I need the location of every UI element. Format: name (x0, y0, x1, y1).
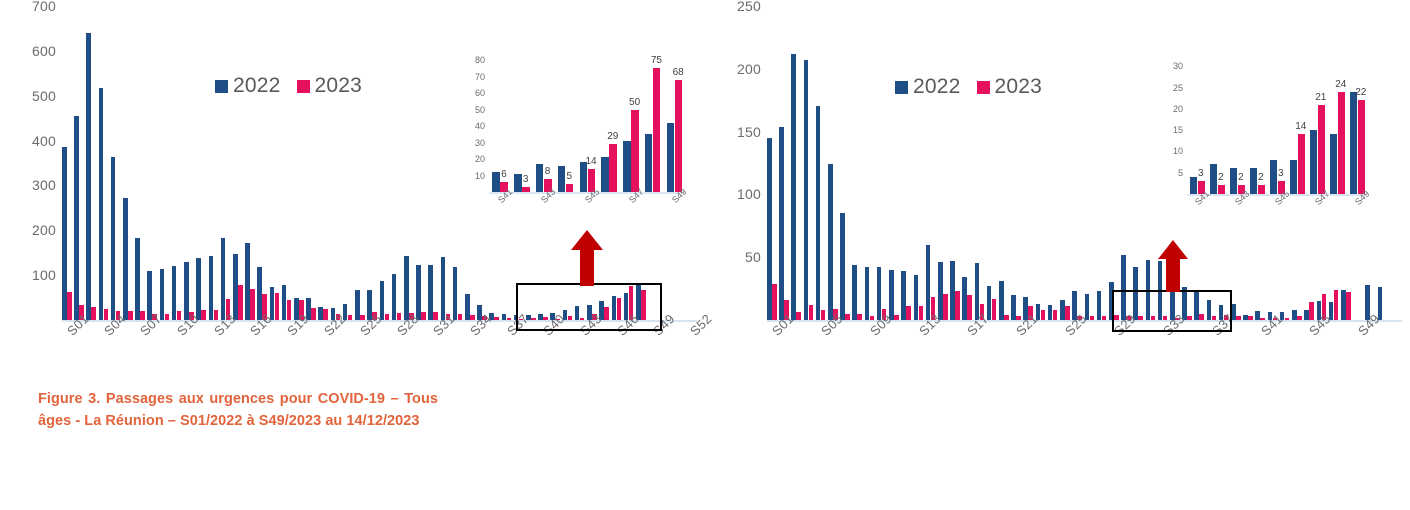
bar-2023-S13 (214, 310, 219, 320)
bar-group (1023, 6, 1035, 320)
bar-group (331, 6, 343, 320)
legend-swatch-2023-icon (977, 81, 990, 94)
bar-2022-S06 (828, 164, 833, 320)
inset-data-label: 29 (607, 131, 618, 142)
y-axis-tick: 400 (32, 133, 56, 149)
inset-y-tick: 10 (1173, 146, 1183, 156)
y-axis-tick: 300 (32, 177, 56, 193)
bar-2023-S19 (287, 300, 292, 320)
bar-2022-S48 (1341, 290, 1346, 320)
bar-2023-S17 (967, 295, 972, 320)
bar-group (901, 6, 913, 320)
bar-group (184, 6, 196, 320)
figure-3-inset-chart: 1020304050607080 63851429507568 S41S43S4… (455, 42, 695, 222)
bar-group (355, 6, 367, 320)
inset-bar-2023-S47 (631, 110, 639, 192)
bar-2022-S12 (196, 258, 201, 320)
inset-bar-2023-S44 (566, 184, 574, 192)
inset-bar-2023-S48 (653, 68, 661, 192)
inset-data-label: 68 (673, 67, 684, 78)
bar-2022-S12 (901, 271, 906, 320)
bar-2022-S31 (428, 265, 433, 320)
bar-2022-S19 (987, 286, 992, 320)
inset-bar-2022-S42 (514, 174, 522, 192)
bar-2023-S23 (1041, 310, 1046, 320)
bar-group (233, 6, 245, 320)
bar-2022-S28 (1097, 291, 1102, 320)
bar-2022-S01 (767, 138, 772, 320)
inset-y-tick: 25 (1173, 83, 1183, 93)
bar-2022-S16 (245, 243, 250, 320)
figure-4-inset-chart: 51015202530 3222314212422 S41S43S45S47S4… (1155, 52, 1390, 227)
bar-group (209, 6, 221, 320)
bar-group (428, 6, 440, 320)
inset-data-label: 5 (566, 171, 572, 182)
bar-2023-S10 (177, 311, 182, 320)
bar-2022-S05 (816, 106, 821, 320)
bar-group (245, 6, 257, 320)
inset-bar-2022-S48 (645, 134, 653, 192)
inset-bar-2023-S49 (675, 80, 683, 192)
bar-2023-S12 (906, 306, 911, 320)
legend-entry-2022: 2022 (215, 74, 281, 98)
bar-2023-S18 (275, 293, 280, 320)
bar-2022-S04 (804, 60, 809, 320)
bar-2022-S41 (1255, 311, 1260, 320)
bar-group (172, 6, 184, 320)
bar-2022-S25 (355, 290, 360, 320)
bar-group (147, 6, 159, 320)
bar-2022-S15 (938, 262, 943, 320)
bar-group (380, 6, 392, 320)
inset-bar-2022-S41 (1190, 177, 1197, 194)
legend-entry-2022: 2022 (895, 75, 961, 99)
y-axis-tick: 250 (737, 0, 761, 14)
bar-2023-S30 (421, 312, 426, 320)
bar-2022-S22 (318, 307, 323, 320)
bar-2022-S18 (270, 287, 275, 320)
bar-group (767, 6, 779, 320)
bar-2022-S01 (62, 147, 67, 320)
bar-group (950, 6, 962, 320)
bar-2023-S03 (91, 307, 96, 320)
inset-data-label: 2 (1218, 172, 1224, 183)
inset-y-tick: 80 (475, 55, 485, 65)
legend-swatch-2022-icon (895, 81, 908, 94)
inset-data-label: 6 (501, 169, 507, 180)
inset-bar-2023-S42 (1218, 185, 1225, 194)
bar-group (367, 6, 379, 320)
bar-2022-S08 (852, 265, 857, 320)
bar-group (99, 6, 111, 320)
bar-group (270, 6, 282, 320)
bar-2022-S09 (865, 267, 870, 320)
bar-group (404, 6, 416, 320)
legend-entry-2023: 2023 (297, 74, 363, 98)
bar-2023-S05 (821, 310, 826, 320)
y-axis-tick: 700 (32, 0, 56, 14)
bar-2022-S19 (282, 285, 287, 320)
bar-group (441, 6, 453, 320)
bar-group (791, 6, 803, 320)
y-axis-tick: 150 (737, 124, 761, 140)
inset-data-label: 75 (651, 55, 662, 66)
inset-y-tick: 30 (1173, 61, 1183, 71)
inset-data-label: 2 (1238, 172, 1244, 183)
bar-2022-S25 (1060, 300, 1065, 320)
inset-bar-2022-S43 (536, 164, 544, 192)
figure-4-inset-y-axis: 51015202530 (1155, 52, 1187, 184)
inset-bar-2022-S46 (1290, 160, 1297, 194)
legend-swatch-2022-icon (215, 80, 228, 93)
bar-group (294, 6, 306, 320)
bar-group (1133, 6, 1145, 320)
inset-bar-2023-S46 (1298, 134, 1305, 194)
inset-y-tick: 15 (1173, 125, 1183, 135)
bar-group (1109, 6, 1121, 320)
bar-group (999, 6, 1011, 320)
bar-2022-S13 (914, 275, 919, 320)
bar-2022-S18 (975, 263, 980, 320)
inset-data-label: 3 (523, 174, 529, 185)
bar-2023-S12 (201, 310, 206, 320)
inset-bar-2022-S48 (1330, 134, 1337, 194)
bar-2023-S21 (311, 308, 316, 320)
figure-3-y-axis: 100200300400500600700 (0, 0, 62, 320)
figure-3-chart: 100200300400500600700 S01S04S07S10S13S16… (0, 0, 705, 340)
inset-data-label: 14 (1295, 121, 1306, 132)
bar-group (938, 6, 950, 320)
bar-2022-S03 (86, 33, 91, 320)
figure-3-inset-x-axis: S41S43S45S47S49 (489, 194, 685, 222)
bar-2022-S29 (404, 256, 409, 320)
bar-group (840, 6, 852, 320)
figure-4-legend: 2022 2023 (895, 75, 1042, 99)
figure-4-panel: 50100150200250 S01S05S09S13S17S21S25S29S… (705, 0, 1410, 510)
bar-group (975, 6, 987, 320)
figure-3-inset-plot: 63851429507568 (489, 52, 685, 192)
bar-group (257, 6, 269, 320)
figure-3-legend: 2022 2023 (215, 74, 362, 98)
inset-bar-2023-S48 (1338, 92, 1345, 194)
bar-2022-S02 (779, 127, 784, 320)
bar-2023-S47 (1334, 290, 1339, 320)
inset-y-tick: 20 (1173, 104, 1183, 114)
bar-2022-S13 (209, 256, 214, 320)
bar-group (865, 6, 877, 320)
bar-group (74, 6, 86, 320)
bar-2022-S24 (1048, 305, 1053, 320)
figure-4-inset-x-axis: S41S43S45S47S49 (1187, 196, 1367, 224)
bar-2022-S20 (999, 281, 1004, 320)
y-axis-tick: 50 (745, 249, 761, 265)
bar-2023-S25 (1065, 306, 1070, 320)
bar-2022-S45 (1304, 310, 1309, 320)
bar-group (877, 6, 889, 320)
bar-2022-S21 (1011, 295, 1016, 320)
bar-2023-S45 (1309, 302, 1314, 320)
bar-2023-S07 (140, 311, 145, 320)
figure-3-highlight-box (516, 283, 662, 331)
figure-4-highlight-box (1112, 290, 1232, 332)
bar-group (816, 6, 828, 320)
bar-2022-S11 (184, 262, 189, 320)
bar-2022-S27 (1085, 294, 1090, 320)
bar-group (1085, 6, 1097, 320)
inset-y-tick: 20 (475, 154, 485, 164)
legend-swatch-2023-icon (297, 80, 310, 93)
bar-group (1036, 6, 1048, 320)
y-axis-tick: 200 (32, 222, 56, 238)
inset-data-label: 22 (1355, 87, 1366, 98)
bar-2022-S14 (926, 245, 931, 320)
bar-2023-S28 (397, 313, 402, 320)
inset-bar-2022-S49 (667, 123, 675, 192)
bar-2022-S44 (1292, 310, 1297, 320)
bar-group (196, 6, 208, 320)
bar-group (1390, 6, 1402, 320)
bar-group (123, 6, 135, 320)
bar-2022-S02 (74, 116, 79, 320)
bar-group (392, 6, 404, 320)
bar-2022-S04 (99, 88, 104, 320)
inset-y-tick: 50 (475, 105, 485, 115)
legend-label-2023: 2023 (995, 75, 1043, 99)
legend-label-2022: 2022 (913, 75, 961, 99)
bar-2022-S28 (392, 274, 397, 320)
figure-4-chart: 50100150200250 S01S05S09S13S17S21S25S29S… (705, 0, 1410, 340)
bar-2022-S32 (441, 257, 446, 320)
y-axis-tick: 600 (32, 43, 56, 59)
legend-label-2023: 2023 (315, 74, 363, 98)
legend-label-2022: 2022 (233, 74, 281, 98)
bar-2023-S03 (796, 312, 801, 320)
bar-2023-S04 (809, 305, 814, 320)
bar-group (1011, 6, 1023, 320)
bar-2023-S13 (919, 306, 924, 320)
figure-4-y-axis: 50100150200250 (705, 0, 767, 320)
bar-2023-S04 (104, 309, 109, 320)
inset-bar-2022-S41 (492, 172, 500, 192)
inset-bar-2022-S47 (1310, 130, 1317, 194)
inset-data-label: 14 (585, 156, 596, 167)
bar-group (62, 6, 74, 320)
bar-group (221, 6, 233, 320)
y-axis-tick: 500 (32, 88, 56, 104)
inset-bar-2022-S43 (1230, 168, 1237, 194)
inset-data-label: 50 (629, 97, 640, 108)
bar-group (779, 6, 791, 320)
bar-group (804, 6, 816, 320)
inset-y-tick: 30 (475, 138, 485, 148)
inset-bar-2023-S46 (609, 144, 617, 192)
y-axis-tick: 100 (737, 186, 761, 202)
inset-bar-2023-S49 (1358, 100, 1365, 194)
inset-y-tick: 40 (475, 121, 485, 131)
bar-group (135, 6, 147, 320)
bar-group (318, 6, 330, 320)
figure-4-zoom-arrow-icon (1157, 240, 1189, 292)
bar-2022-S17 (962, 277, 967, 320)
figure-3-inset-y-axis: 1020304050607080 (455, 42, 489, 182)
inset-data-label: 24 (1335, 79, 1346, 90)
figure-4-x-axis: S01S05S09S13S17S21S25S29S33S37S41S45S49 (767, 322, 1402, 368)
bar-2023-S16 (955, 291, 960, 320)
bar-group (343, 6, 355, 320)
inset-data-label: 3 (1278, 168, 1284, 179)
bar-2022-S10 (172, 266, 177, 320)
bar-2022-S27 (380, 281, 385, 320)
inset-bar-2022-S47 (623, 141, 631, 192)
inset-y-tick: 60 (475, 88, 485, 98)
bar-2023-S01 (772, 284, 777, 320)
bar-2023-S19 (992, 299, 997, 320)
bar-2023-S22 (323, 309, 328, 320)
bar-2022-S03 (791, 54, 796, 320)
bar-group (1048, 6, 1060, 320)
bar-2022-S11 (889, 270, 894, 320)
bar-2022-S09 (160, 269, 165, 320)
inset-bar-2022-S44 (1250, 168, 1257, 194)
inset-bar-2022-S49 (1350, 92, 1357, 194)
figure-3-panel: 100200300400500600700 S01S04S07S10S13S16… (0, 0, 705, 510)
bar-2022-S10 (877, 267, 882, 320)
bar-2023-S01 (67, 292, 72, 320)
bar-2023-S24 (1053, 310, 1058, 320)
bar-2022-S30 (416, 265, 421, 320)
y-axis-tick: 100 (32, 267, 56, 283)
bar-group (1072, 6, 1084, 320)
bar-group (987, 6, 999, 320)
bar-2023-S15 (943, 294, 948, 320)
bar-2023-S48 (1346, 292, 1351, 320)
inset-data-label: 3 (1198, 168, 1204, 179)
inset-data-label: 21 (1315, 92, 1326, 103)
bar-group (306, 6, 318, 320)
bar-2023-S16 (250, 289, 255, 320)
bar-2022-S15 (233, 254, 238, 320)
bar-group (926, 6, 938, 320)
y-axis-tick: 200 (737, 61, 761, 77)
bar-group (1060, 6, 1072, 320)
figure-3-caption: Figure 3. Passages aux urgences pour COV… (38, 388, 438, 433)
bar-group (160, 6, 172, 320)
inset-bar-2023-S44 (1258, 185, 1265, 194)
bar-2022-S16 (950, 261, 955, 320)
bar-2023-S06 (128, 311, 133, 320)
bar-group (889, 6, 901, 320)
bar-2022-S07 (840, 213, 845, 320)
bar-2022-S07 (135, 238, 140, 320)
inset-y-tick: 10 (475, 171, 485, 181)
bar-2022-S14 (221, 238, 226, 320)
inset-data-label: 8 (545, 166, 551, 177)
bar-group (962, 6, 974, 320)
inset-bar-2022-S44 (558, 166, 566, 192)
inset-bar-2022-S46 (601, 157, 609, 192)
bar-group (282, 6, 294, 320)
inset-y-tick: 5 (1178, 168, 1183, 178)
bar-group (416, 6, 428, 320)
bar-group (1121, 6, 1133, 320)
inset-data-label: 2 (1258, 172, 1264, 183)
figure-4-inset-plot: 3222314212422 (1187, 62, 1367, 194)
bar-group (86, 6, 98, 320)
figure-3-zoom-arrow-icon (570, 230, 604, 286)
bar-2022-S33 (453, 267, 458, 320)
bar-2022-S06 (123, 198, 128, 320)
inset-bar-2022-S45 (1270, 160, 1277, 194)
bar-2022-S34 (465, 294, 470, 320)
inset-y-tick: 70 (475, 72, 485, 82)
figures-page: 100200300400500600700 S01S04S07S10S13S16… (0, 0, 1410, 510)
inset-bar-2022-S42 (1210, 164, 1217, 194)
bar-group (828, 6, 840, 320)
bar-group (914, 6, 926, 320)
bar-2022-S51 (1378, 287, 1383, 320)
bar-group (1097, 6, 1109, 320)
bar-group (111, 6, 123, 320)
bar-2022-S05 (111, 157, 116, 320)
inset-bar-2023-S47 (1318, 105, 1325, 194)
bar-group (852, 6, 864, 320)
bar-2023-S15 (238, 285, 243, 320)
legend-entry-2023: 2023 (977, 75, 1043, 99)
